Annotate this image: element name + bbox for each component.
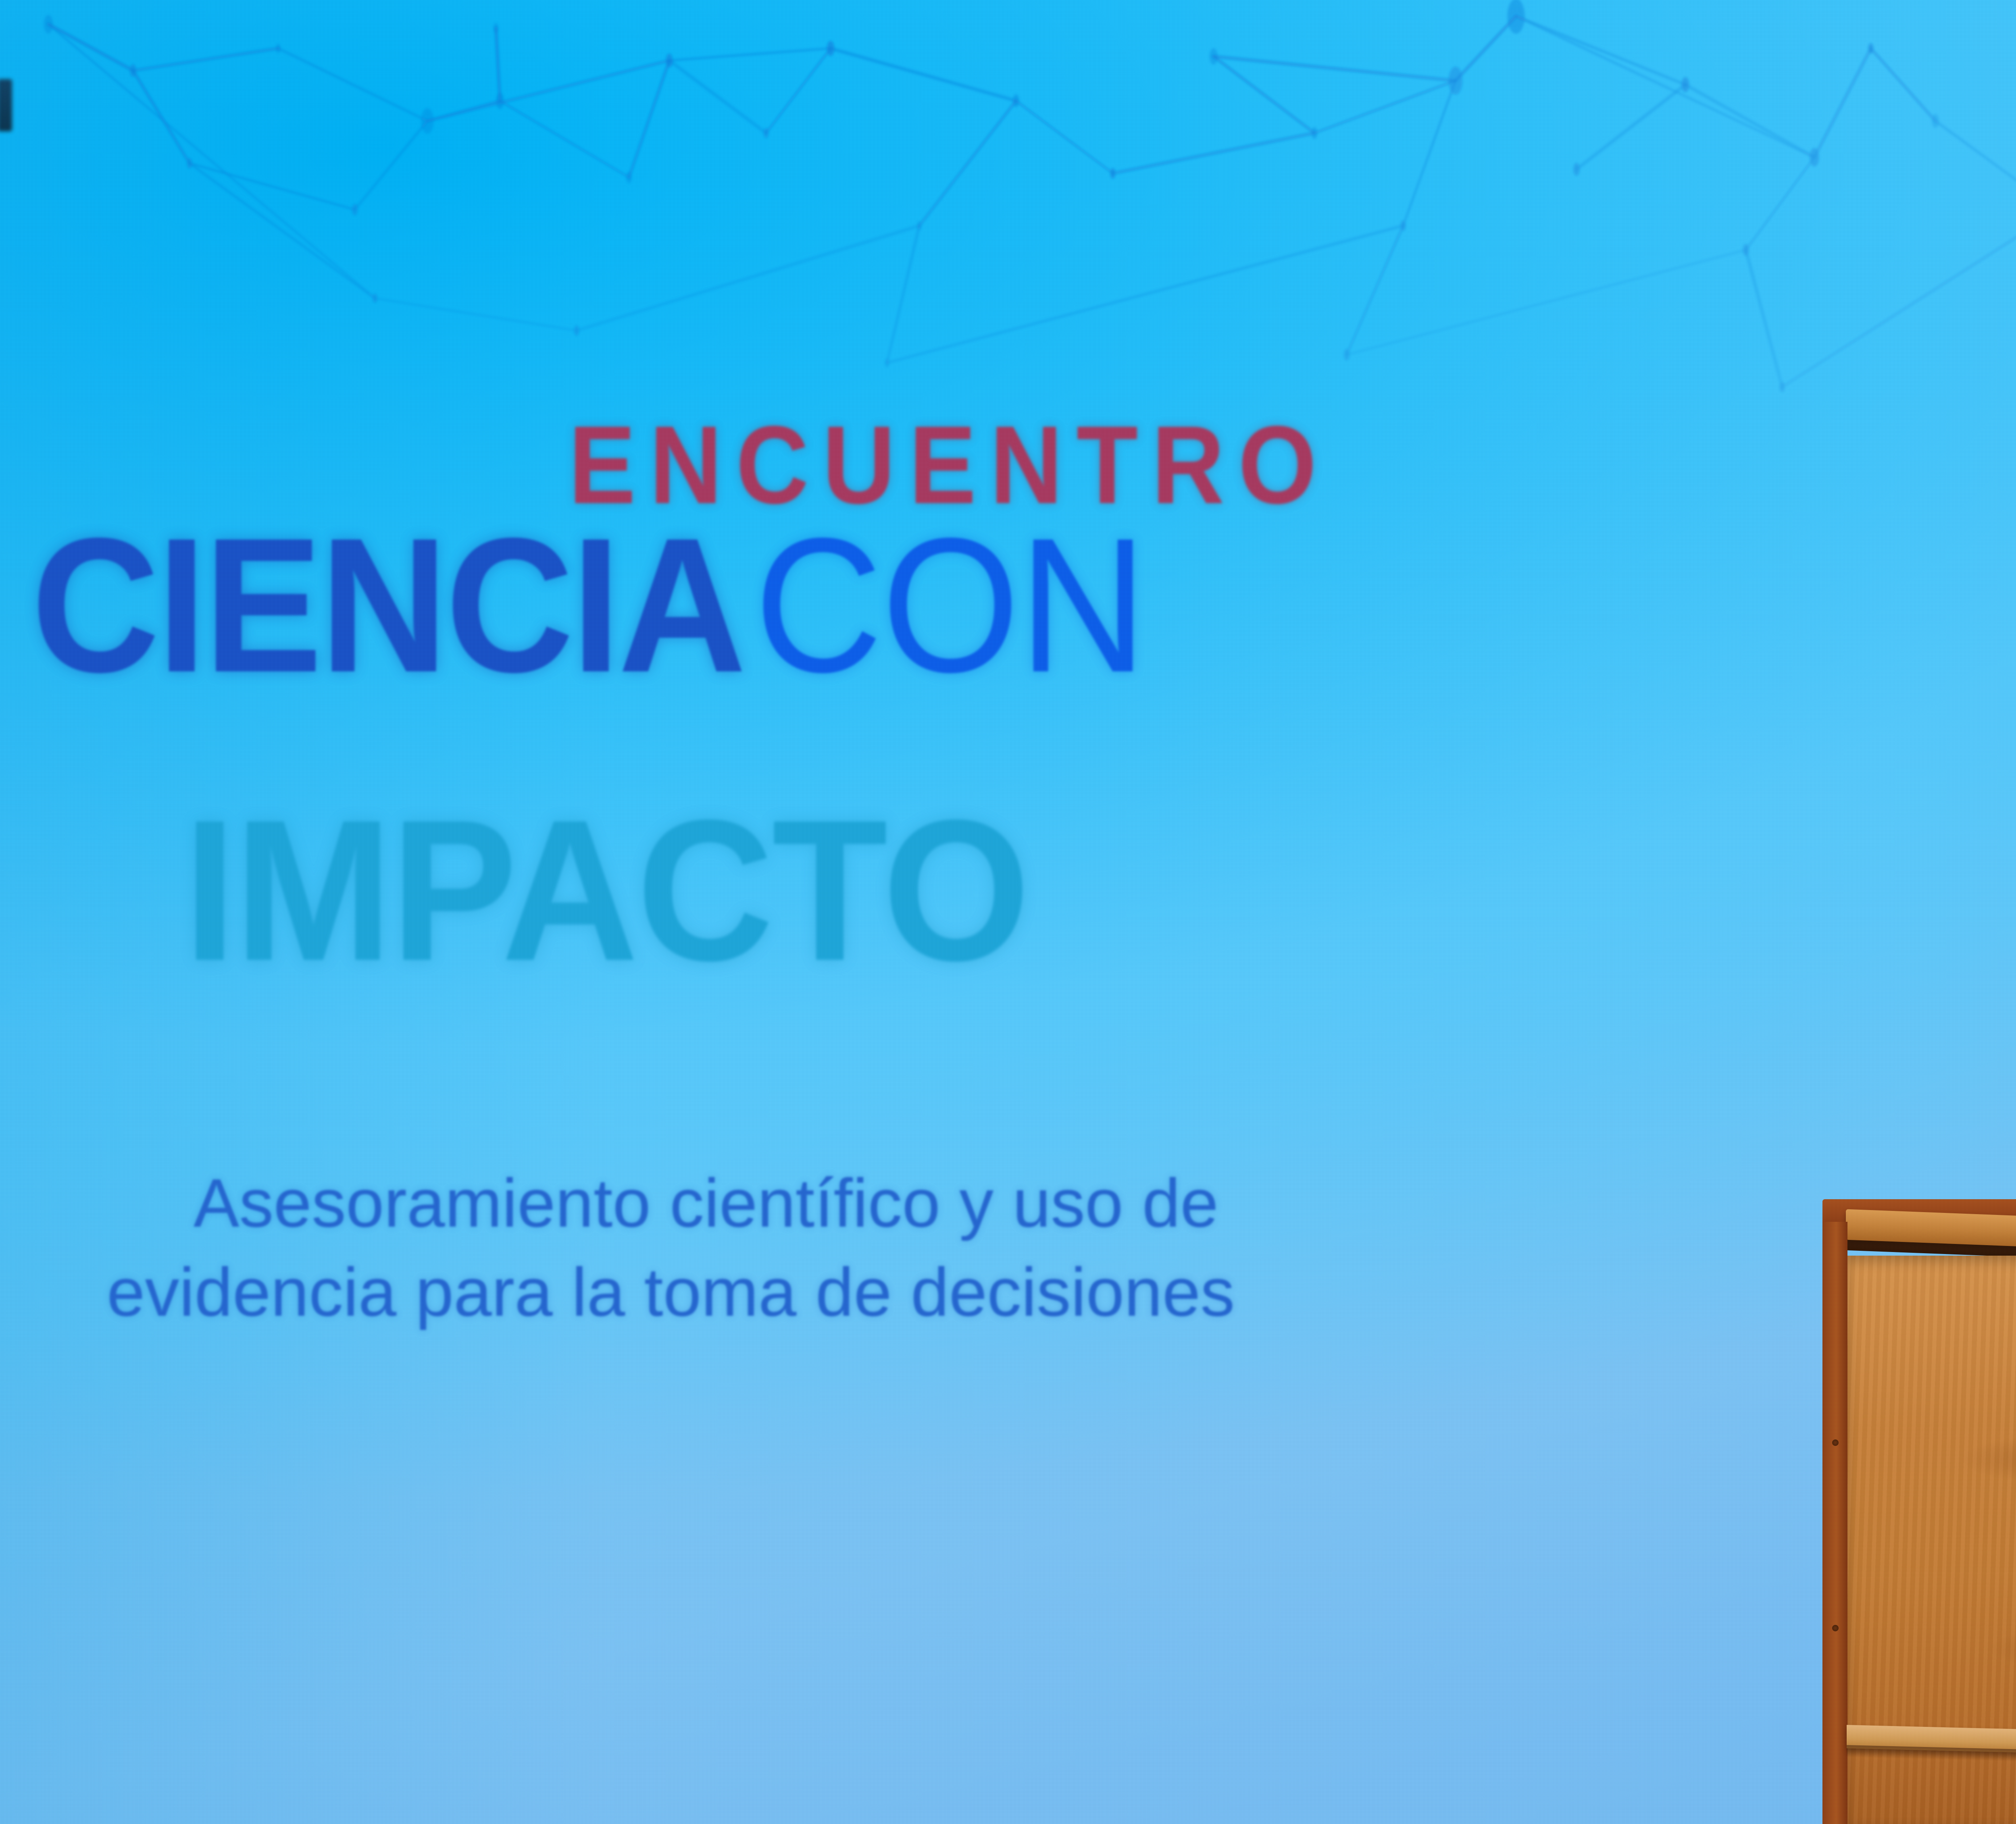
projection-screen	[0, 0, 2016, 1824]
lectern-screw	[1832, 1439, 1839, 1446]
lectern-wood-grain	[1951, 1618, 2016, 1679]
conference-photo-stage: ENCUENTRO CIENCIACON IMPACTO Asesoramien…	[0, 0, 2016, 1824]
wooden-lectern	[1822, 1199, 2016, 1824]
lectern-left-edge	[1822, 1222, 1847, 1824]
lectern-wood-grain	[1919, 1425, 2016, 1493]
lectern-screw	[1832, 1625, 1839, 1631]
